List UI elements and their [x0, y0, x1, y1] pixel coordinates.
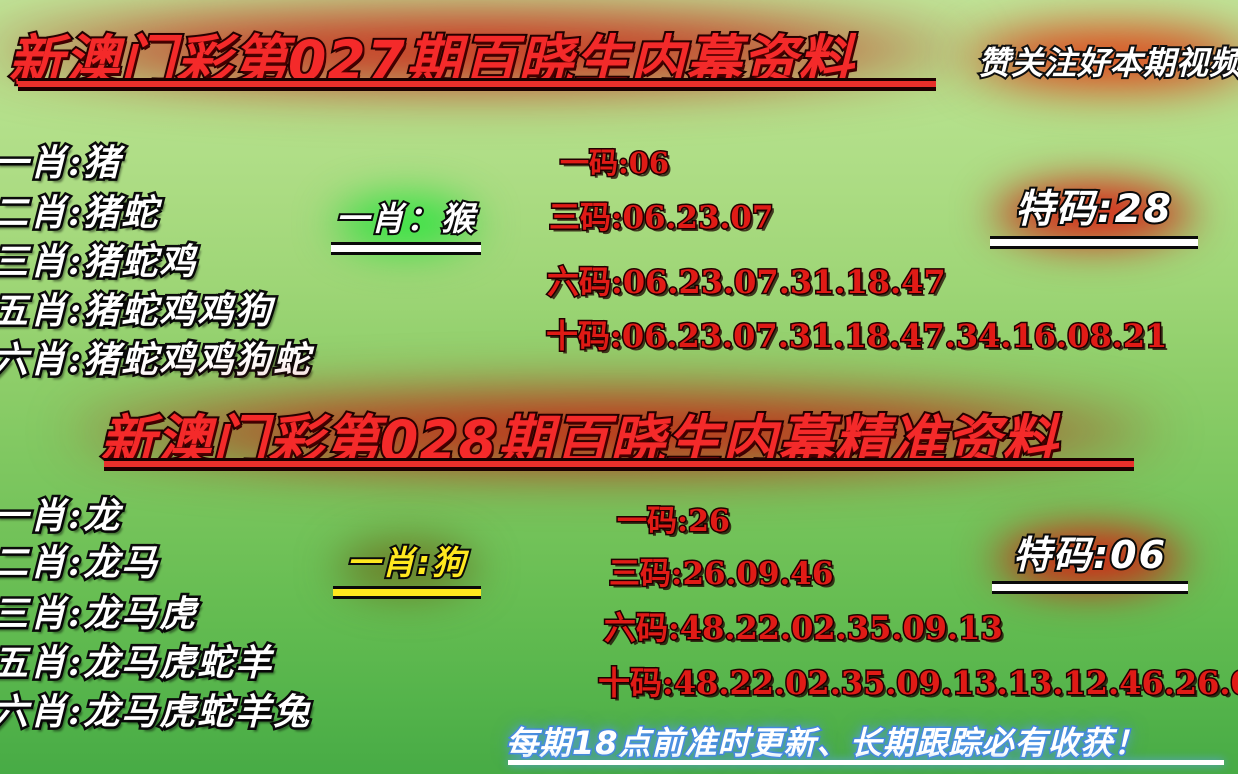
section-2-one-zodiac-badge-label: 一肖:狗	[332, 536, 482, 584]
section-1-code-three: 三码:06.23.07	[549, 192, 773, 237]
section-1-zodiac-line-1: 一肖:猪	[0, 134, 121, 186]
section-1-code-one: 一码:06	[560, 140, 669, 182]
section-1-code-six: 六码:06.23.07.31.18.47	[547, 257, 946, 303]
section-2-one-zodiac-badge[interactable]: 一肖:狗	[332, 536, 482, 599]
section-1-zodiac-line-5: 五肖:猪蛇鸡鸡狗	[0, 282, 273, 334]
section-1-special-badge-underline	[990, 236, 1198, 249]
section-1-special-badge-label: 特码:28	[988, 178, 1200, 234]
section-2-one-zodiac-badge-underline	[333, 586, 481, 599]
section-1-zodiac-line-3: 三肖:猪蛇鸡	[0, 233, 197, 285]
footer-banner-underline	[508, 760, 1224, 765]
section-1-special-badge[interactable]: 特码:28	[988, 178, 1200, 249]
promo-text: 赞关注好本期视频	[978, 38, 1238, 84]
section-1-one-zodiac-badge[interactable]: 一肖：猴	[330, 192, 482, 255]
section-2-zodiac-line-2: 二肖:龙马	[0, 534, 159, 586]
section-1-zodiac-line-2: 二肖:猪蛇	[0, 184, 159, 236]
section-2-title-underline	[104, 458, 1134, 471]
poster-canvas: 新澳门彩第027期百晓生内幕资料 赞关注好本期视频 一肖:猪 二肖:猪蛇 三肖:…	[0, 0, 1238, 774]
section-2-code-ten: 十码:48.22.02.35.09.13.13.12.46.26.03	[598, 658, 1238, 704]
section-1-one-zodiac-badge-underline	[331, 242, 481, 255]
section-2-zodiac-line-6: 六肖:龙马虎蛇羊兔	[0, 683, 311, 735]
section-2-zodiac-line-1: 一肖:龙	[0, 487, 121, 539]
section-1-title-underline	[18, 78, 936, 91]
section-1-code-ten: 十码:06.23.07.31.18.47.34.16.08.21	[546, 311, 1167, 357]
section-2-special-badge-label: 特码:06	[990, 524, 1190, 579]
section-2-zodiac-line-5: 五肖:龙马虎蛇羊	[0, 634, 273, 686]
section-2-special-badge-underline	[992, 581, 1188, 594]
section-1-one-zodiac-badge-label: 一肖：猴	[330, 192, 482, 240]
section-2-code-three: 三码:26.09.46	[609, 548, 833, 593]
section-2-code-six: 六码:48.22.02.35.09.13	[604, 603, 1003, 649]
section-2-zodiac-line-3: 三肖:龙马虎	[0, 585, 197, 637]
section-2-special-badge[interactable]: 特码:06	[990, 524, 1190, 594]
section-2-code-one: 一码:26	[617, 496, 730, 540]
footer-banner-text: 每期18点前准时更新、长期跟踪必有收获！	[506, 718, 1147, 764]
section-1-zodiac-line-6: 六肖:猪蛇鸡鸡狗蛇	[0, 331, 311, 383]
